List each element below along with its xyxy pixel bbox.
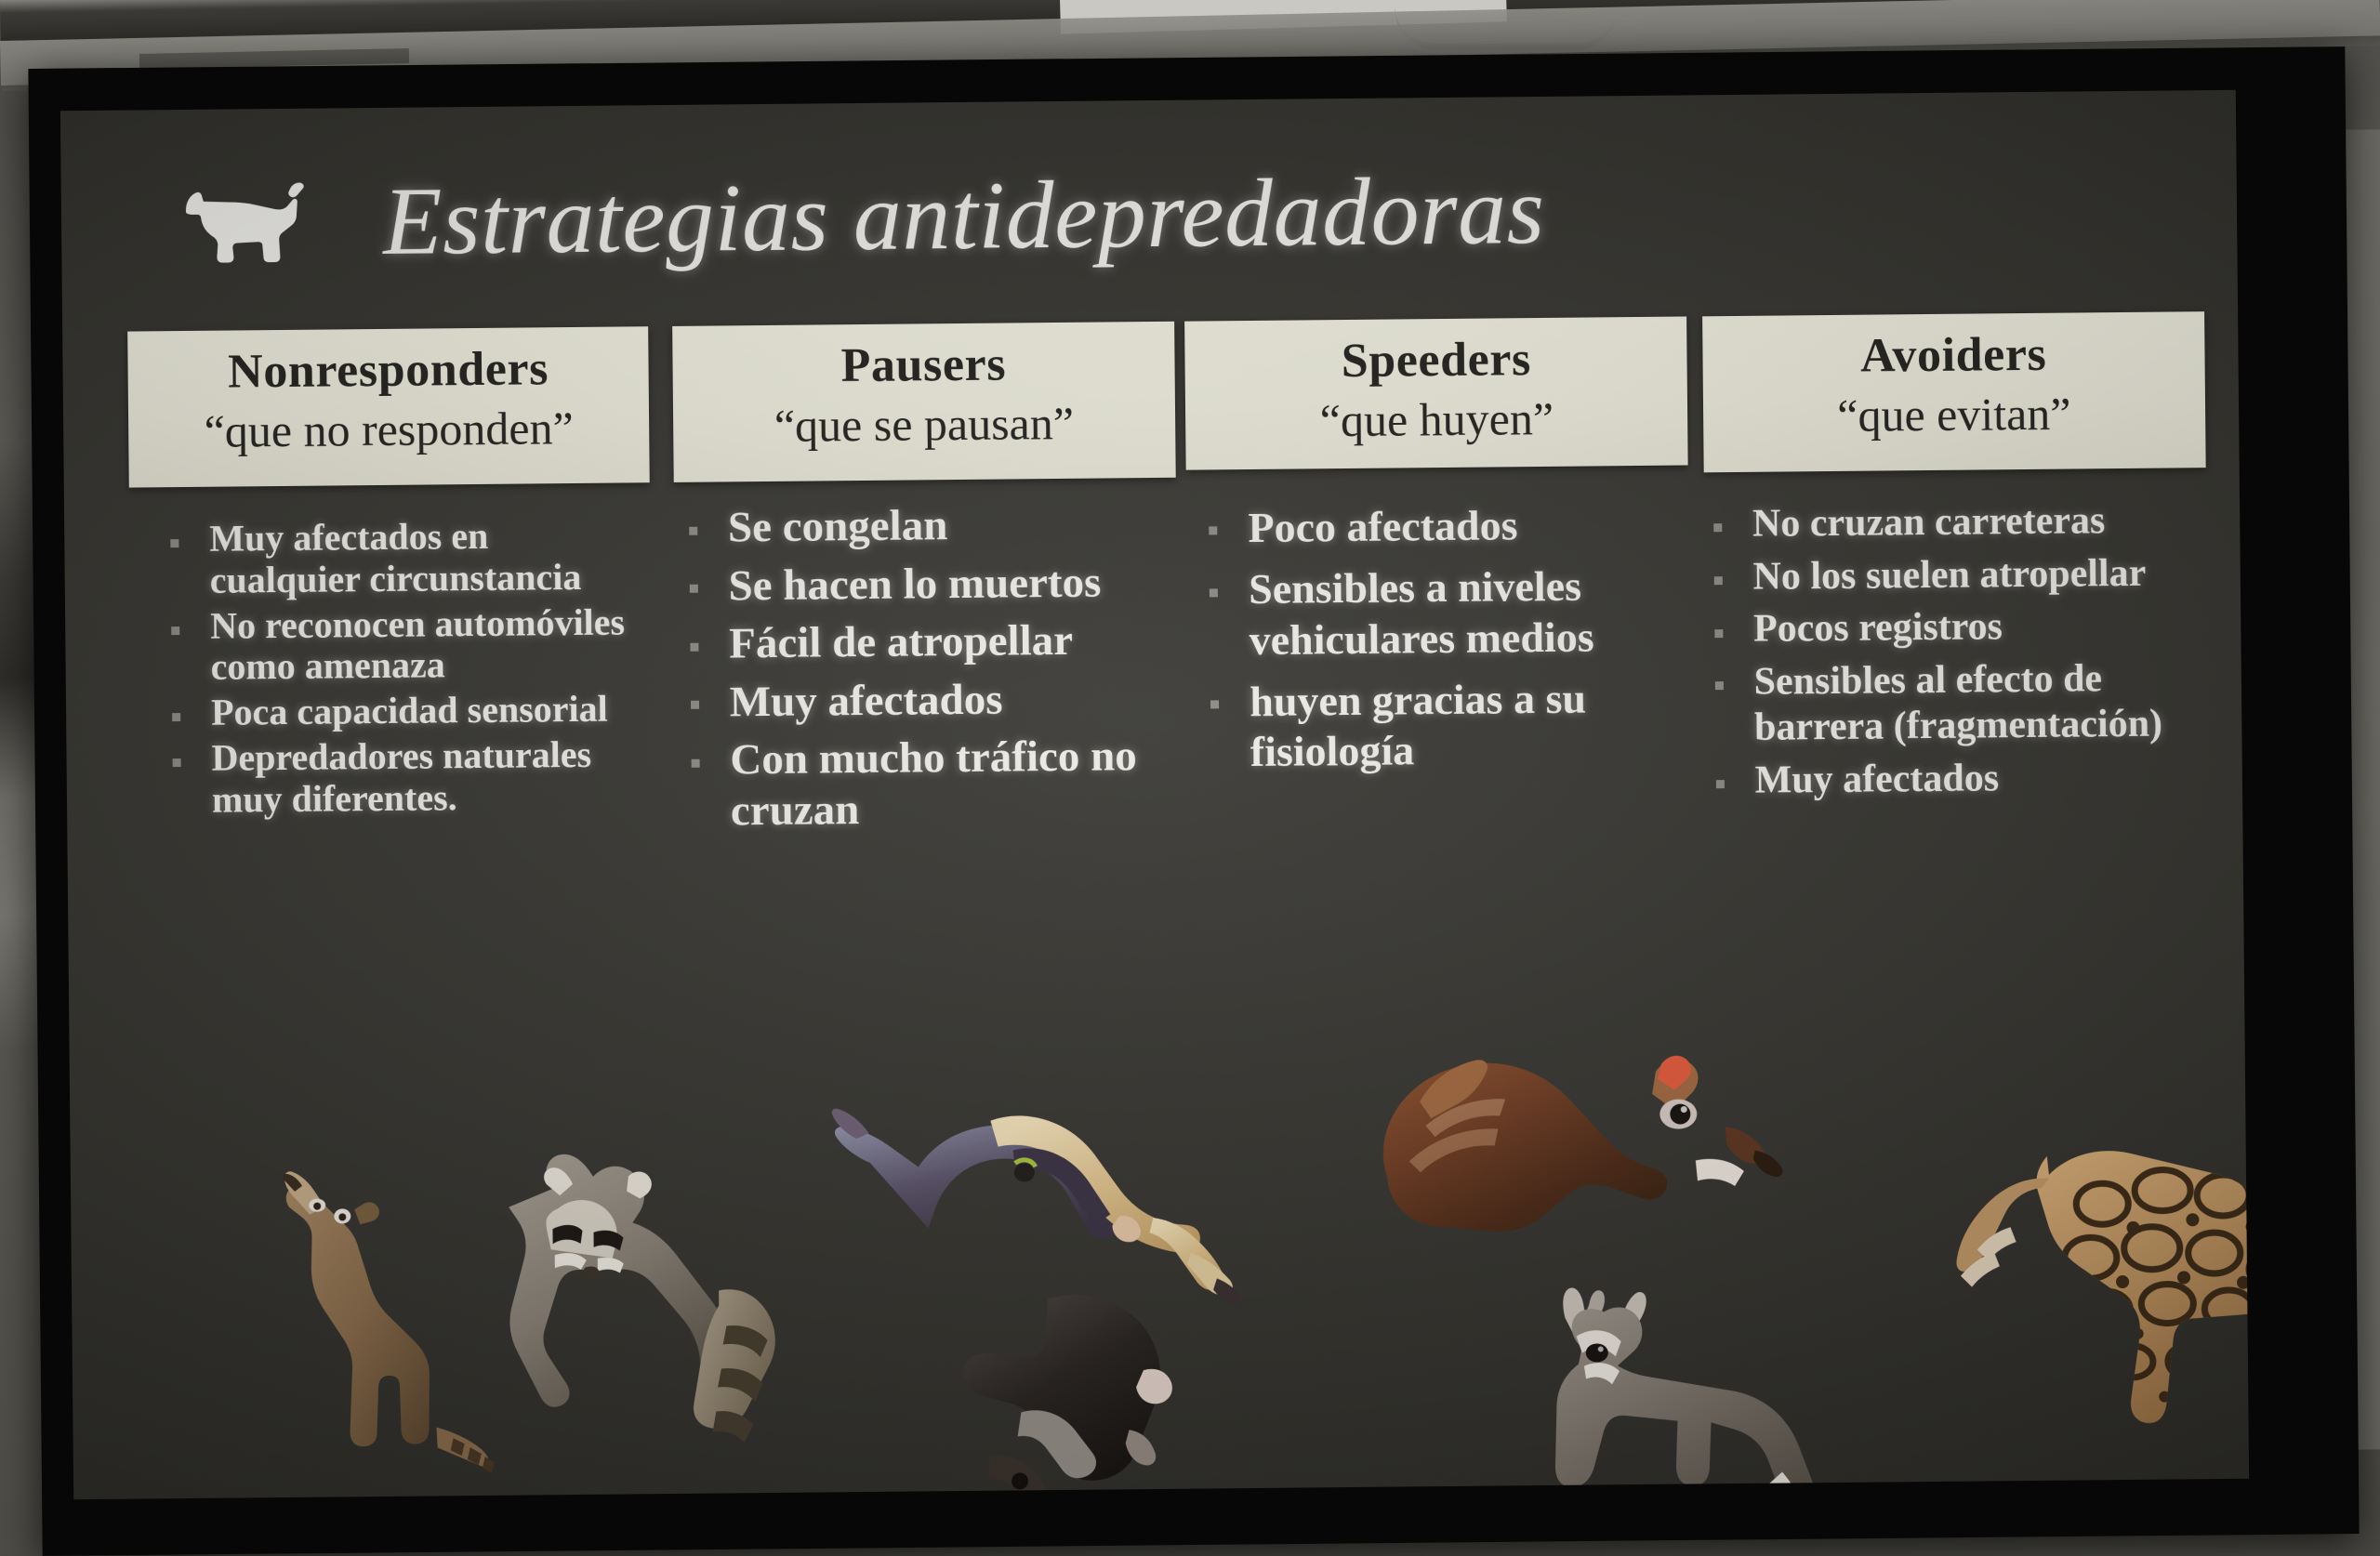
column-pausers: Pausers “que se pausan” Se congelan Se h… (663, 322, 1185, 844)
column-header-es: “que no responden” (138, 400, 641, 460)
jaguar-photo (1938, 1115, 2249, 1492)
column-header-es: “que evitan” (1712, 384, 2197, 444)
list-item: Muy afectados en cualquier circunstancia (157, 514, 641, 602)
list-item: Poco afectados (1196, 499, 1679, 554)
column-header-en: Nonresponders (137, 341, 640, 400)
deer-photo (1485, 1274, 1878, 1500)
column-speeders: Speeders “que huyen” Poco afectados Sens… (1175, 316, 1698, 838)
list-item: Depredadores naturales muy diferentes. (159, 733, 643, 822)
list-item: Muy afectados (678, 672, 1161, 728)
bullet-list-pausers: Se congelan Se hacen lo muertos Fácil de… (676, 498, 1162, 837)
list-item: huyen gracias a su fisiología (1197, 672, 1682, 778)
bullet-list-nonresponders: Muy afectados en cualquier circunstancia… (157, 514, 643, 822)
column-header-nonresponders: Nonresponders “que no responden” (127, 326, 650, 487)
column-header-speeders: Speeders “que huyen” (1184, 316, 1688, 469)
bullet-list-avoiders: No cruzan carreteras No los suelen atrop… (1700, 497, 2224, 804)
list-item: Fácil de atropellar (677, 614, 1160, 670)
list-item: Muy afectados (1702, 754, 2223, 804)
list-item: Sensibles a niveles vehiculares medios (1197, 560, 1681, 666)
column-header-es: “que se pausan” (682, 394, 1167, 455)
bullet-list-speeders: Poco afectados Sensibles a niveles vehic… (1196, 499, 1682, 778)
column-header-avoiders: Avoiders “que evitan” (1702, 311, 2206, 472)
strategy-columns: Nonresponders “que no responden” Muy afe… (90, 311, 2224, 850)
list-item: No los suelen atropellar (1700, 550, 2221, 600)
opossum-photo (908, 1280, 1218, 1499)
column-header-es: “que huyen” (1195, 389, 1679, 450)
list-item: Con mucho tráfico no cruzan (678, 731, 1162, 837)
list-item: No reconocen automóviles como amenaza (158, 601, 642, 690)
list-item: Se hacen lo muertos (676, 556, 1159, 612)
presentation-slide: Estrategias antidepredadoras Nonresponde… (60, 90, 2249, 1499)
list-item: Poca capacidad sensorial (159, 688, 642, 734)
slide-title-row: Estrategias antidepredadoras (126, 144, 2172, 284)
column-header-en: Avoiders (1712, 326, 2196, 385)
list-item: No cruzan carreteras (1700, 497, 2221, 547)
column-header-en: Speeders (1195, 332, 1679, 390)
page-title: Estrategias antidepredadoras (383, 163, 1545, 270)
list-item: Pocos registros (1701, 602, 2222, 653)
list-item: Sensibles al efecto de barrera (fragment… (1701, 655, 2223, 751)
column-nonresponders: Nonresponders “que no responden” Muy afe… (127, 326, 677, 850)
agouti-photo (1370, 1005, 1792, 1315)
column-avoiders: Avoiders “que evitan” No cruzan carreter… (1693, 311, 2225, 835)
animal-silhouette-icon (173, 178, 323, 270)
column-header-en: Pausers (681, 336, 1166, 395)
list-item: Se congelan (676, 498, 1159, 554)
tamandua-photo (804, 1038, 1272, 1322)
raccoon-photo (442, 1127, 798, 1465)
column-header-pausers: Pausers “que se pausan” (672, 322, 1176, 482)
